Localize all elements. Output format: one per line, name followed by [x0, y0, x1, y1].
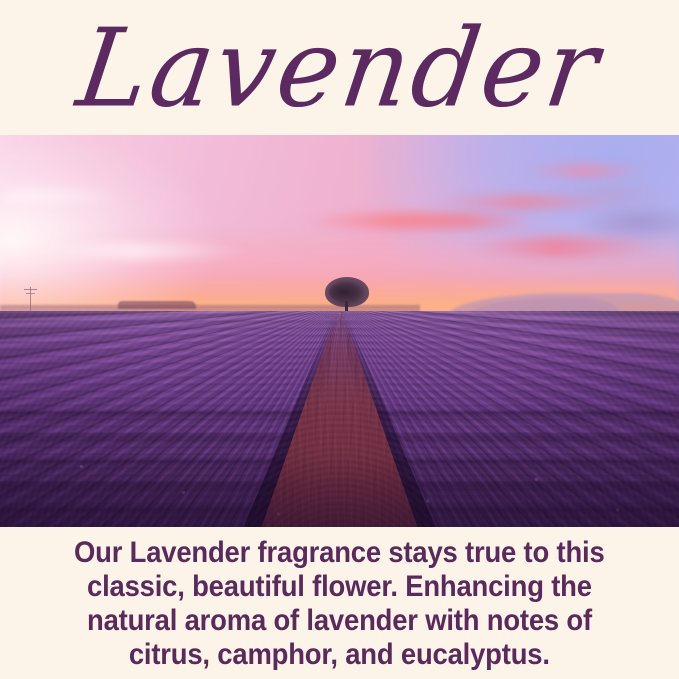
cloud-streak: [520, 165, 650, 177]
lavender-field-photo: [0, 135, 679, 527]
cloud-streak: [0, 189, 150, 203]
header-banner: Lavender: [0, 0, 679, 135]
caption-line: Our Lavender fragrance stays true to thi…: [74, 536, 605, 570]
caption-line: classic, beautiful flower. Enhancing the: [87, 570, 592, 604]
cloud-puff: [560, 181, 670, 207]
caption-line: natural aroma of lavender with notes of: [87, 604, 592, 638]
lavender-product-card: Lavender: [0, 0, 679, 679]
cloud-streak: [300, 213, 540, 229]
field-foreground-shadow: [0, 457, 679, 527]
caption-block: Our Lavender fragrance stays true to thi…: [0, 527, 679, 679]
cloud-streak: [20, 243, 250, 259]
cloud-streak: [470, 237, 660, 257]
lavender-field: [0, 311, 679, 527]
page-title: Lavender: [0, 1, 679, 134]
power-line-pole-icon: [30, 287, 31, 313]
caption-line: citrus, camphor, and eucalyptus.: [129, 638, 550, 672]
distant-village: [118, 301, 196, 309]
